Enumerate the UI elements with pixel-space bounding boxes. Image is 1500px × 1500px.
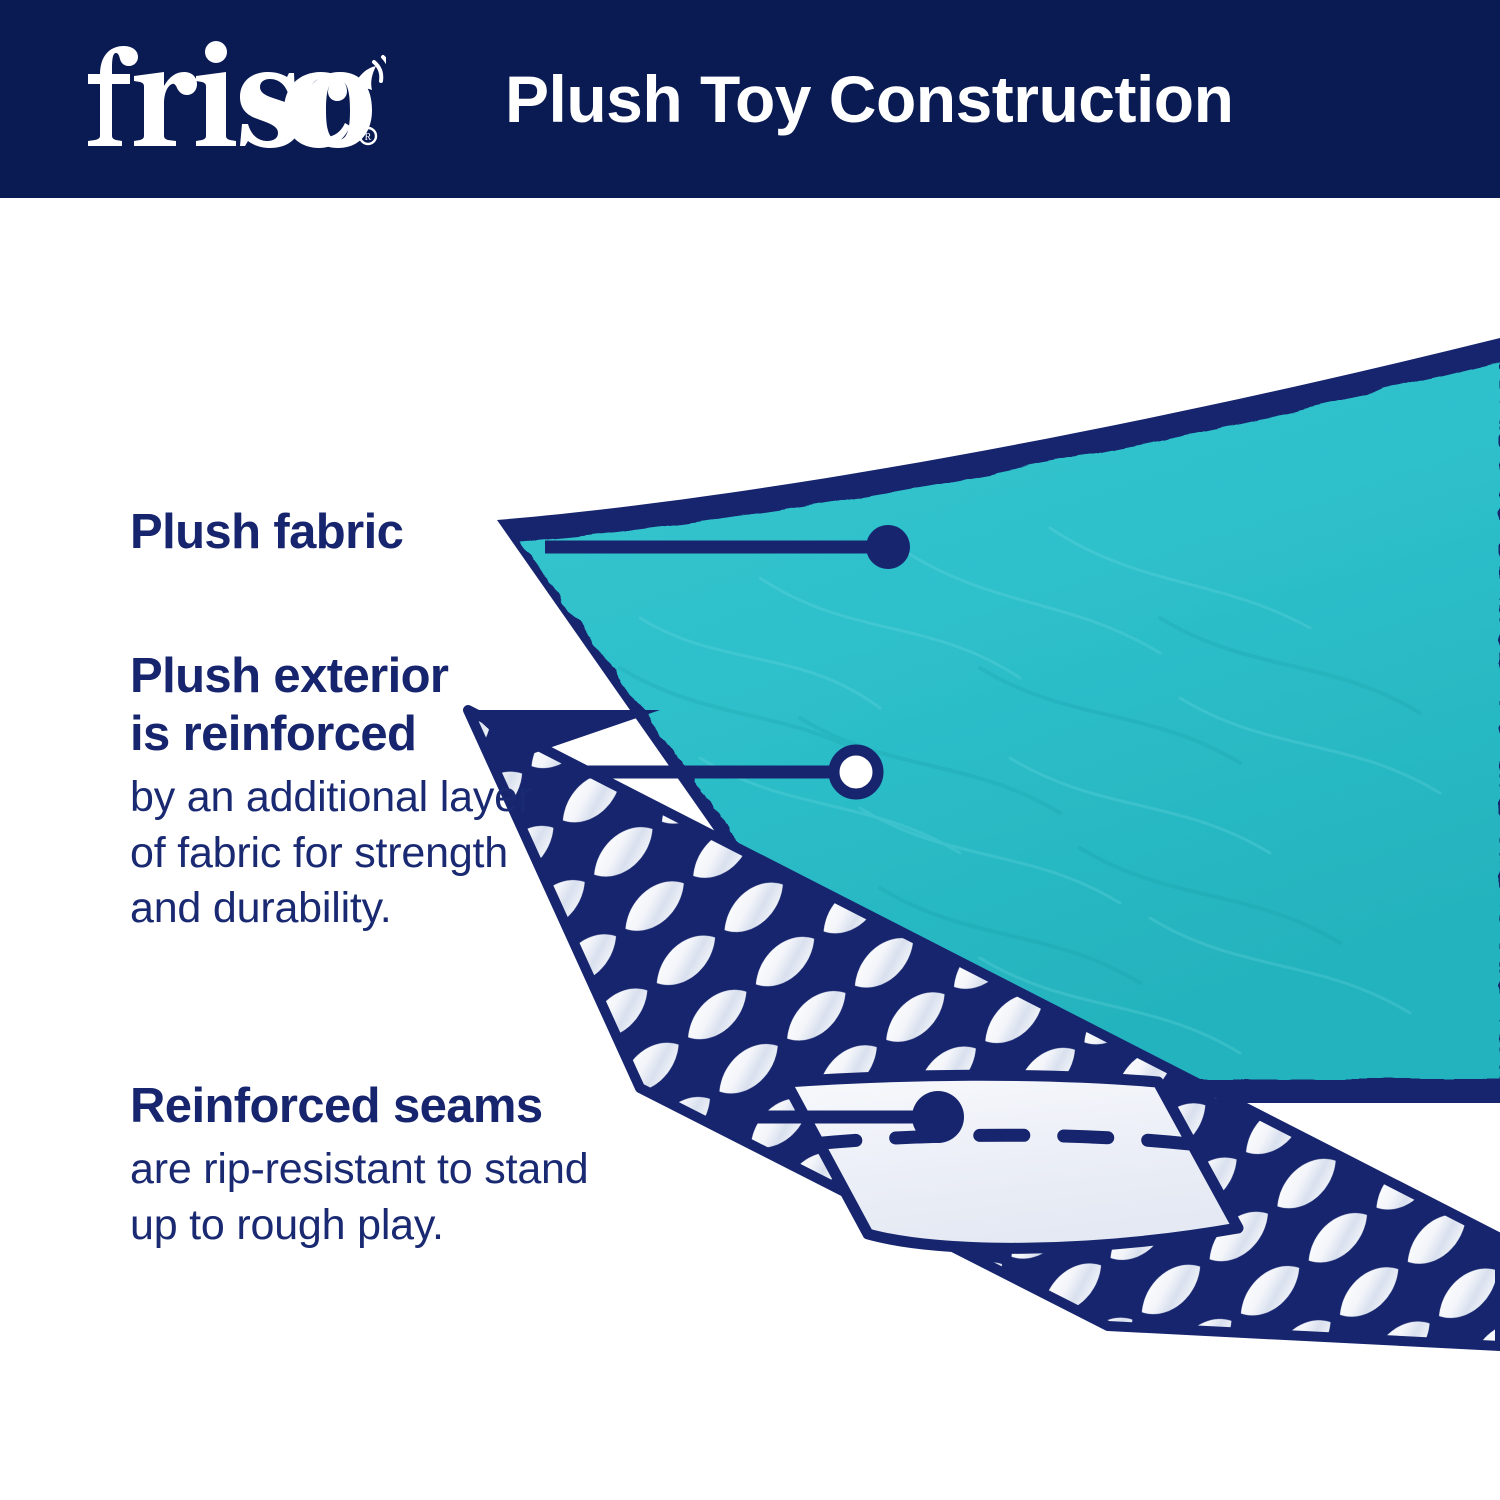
reinforced-seam-flap — [786, 1075, 1238, 1248]
callout-reinforced-seams-body: are rip-resistant to stand up to rough p… — [130, 1142, 810, 1254]
frisco-logo: R — [86, 40, 386, 150]
svg-text:R: R — [365, 132, 372, 143]
callout-reinforced-seams: Reinforced seams are rip-resistant to st… — [130, 1078, 810, 1254]
leader-dot-plush-fabric — [866, 525, 910, 569]
infographic-root: R Plush Toy Construction — [0, 0, 1500, 1500]
leader-ring-plush-exterior — [834, 750, 878, 794]
callout-plush-fabric: Plush fabric — [130, 504, 560, 562]
header-band: R Plush Toy Construction — [0, 0, 1500, 198]
callout-plush-fabric-heading: Plush fabric — [130, 504, 560, 562]
page-title: Plush Toy Construction — [505, 0, 1385, 198]
callout-plush-exterior: Plush exterior is reinforced by an addit… — [130, 648, 730, 937]
callout-reinforced-seams-heading: Reinforced seams — [130, 1078, 810, 1136]
callout-plush-exterior-heading: Plush exterior is reinforced — [130, 648, 730, 764]
callout-plush-exterior-body: by an additional layer of fabric for str… — [130, 770, 730, 938]
leader-dot-reinforced-seams — [912, 1091, 964, 1143]
